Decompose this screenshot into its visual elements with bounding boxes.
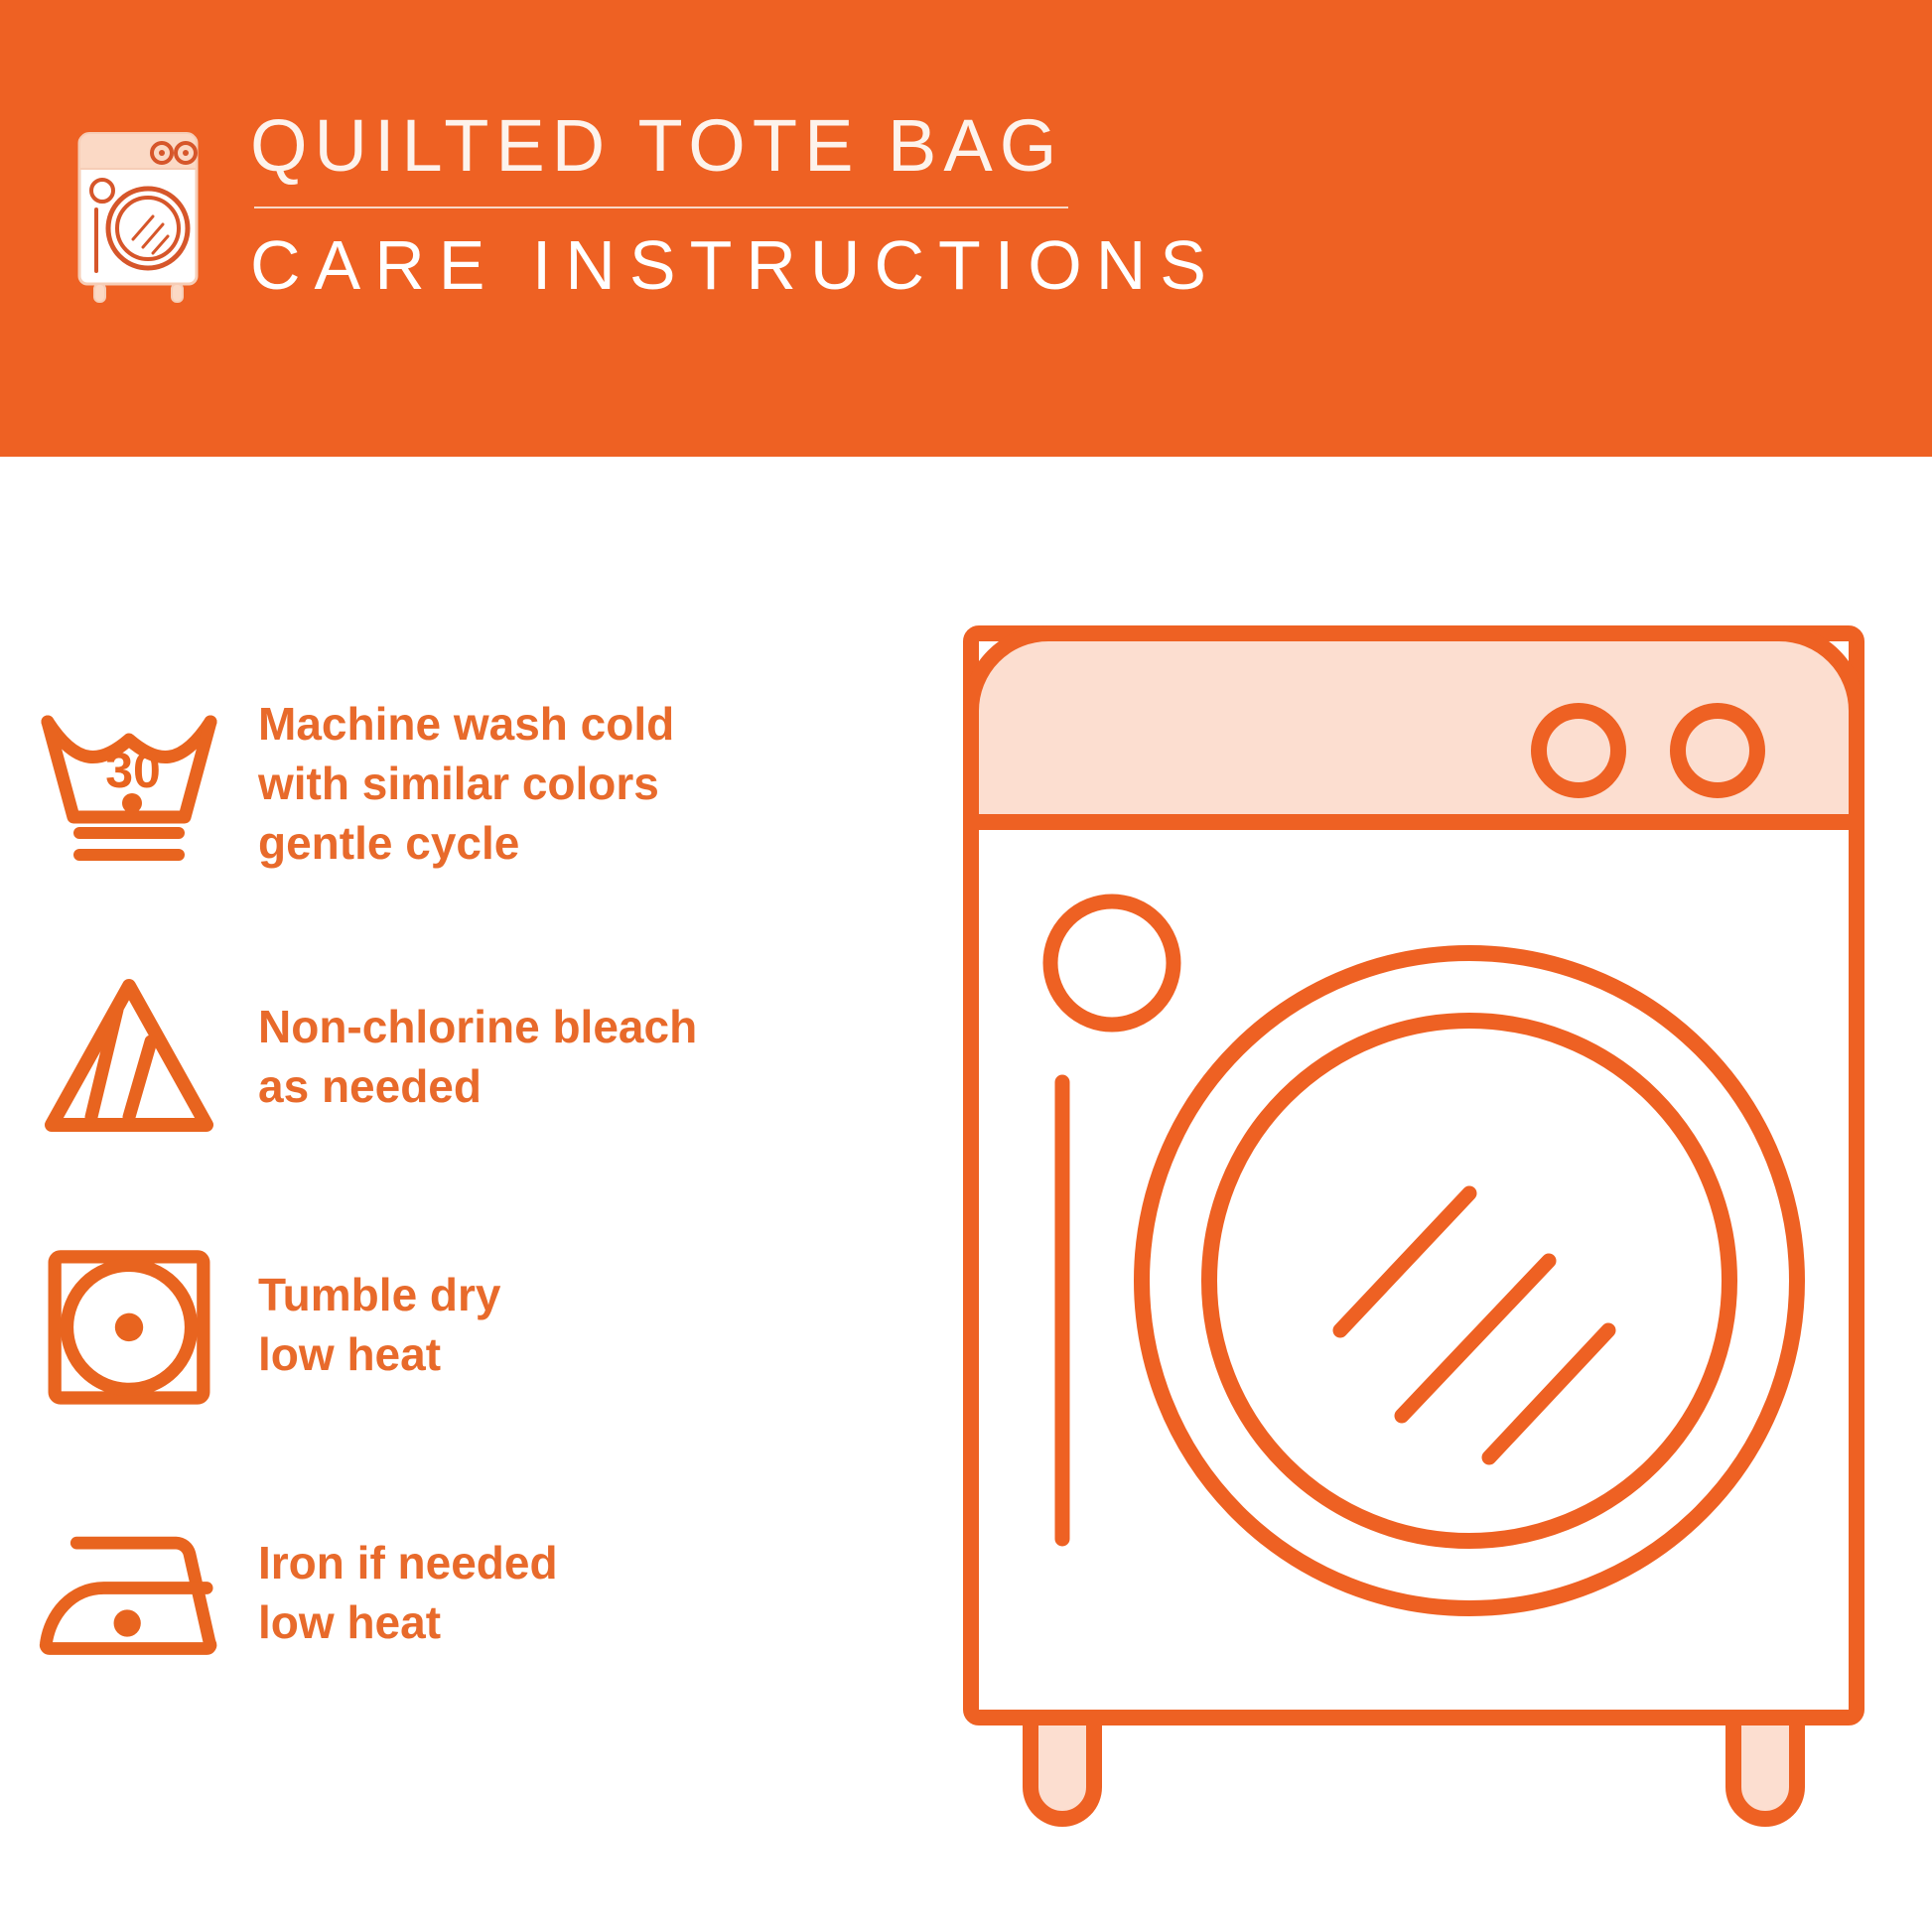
washing-machine-illustration bbox=[953, 616, 1876, 1847]
wash-tub-30-gentle-icon: 30 bbox=[0, 685, 258, 884]
tumble-dry-low-heat-icon bbox=[0, 1226, 258, 1425]
wash-temperature-label: 30 bbox=[105, 743, 161, 798]
care-instruction-text: Machine wash cold with similar colors ge… bbox=[258, 695, 674, 873]
care-instruction-text: Tumble dry low heat bbox=[258, 1266, 501, 1385]
washing-machine-icon bbox=[69, 117, 208, 306]
care-instruction-row: 30 Machine wash cold with similar colors… bbox=[0, 670, 953, 898]
non-chlorine-bleach-triangle-icon bbox=[0, 958, 258, 1157]
header-banner: QUILTED TOTE BAG CARE INSTRUCTIONS bbox=[0, 0, 1932, 457]
care-instruction-row: Iron if needed low heat bbox=[0, 1479, 953, 1708]
care-instruction-text: Iron if needed low heat bbox=[258, 1534, 558, 1653]
page-title: QUILTED TOTE BAG bbox=[250, 109, 1220, 183]
page-subtitle: CARE INSTRUCTIONS bbox=[250, 230, 1220, 300]
header-content: QUILTED TOTE BAG CARE INSTRUCTIONS bbox=[69, 109, 1220, 306]
care-instruction-row: Non-chlorine bleach as needed bbox=[0, 943, 953, 1172]
title-divider bbox=[254, 207, 1068, 208]
care-instruction-row: Tumble dry low heat bbox=[0, 1211, 953, 1440]
care-instructions-list: 30 Machine wash cold with similar colors… bbox=[0, 457, 953, 1932]
iron-low-heat-icon bbox=[0, 1494, 258, 1693]
care-instruction-text: Non-chlorine bleach as needed bbox=[258, 998, 697, 1117]
header-title-block: QUILTED TOTE BAG CARE INSTRUCTIONS bbox=[250, 109, 1220, 300]
